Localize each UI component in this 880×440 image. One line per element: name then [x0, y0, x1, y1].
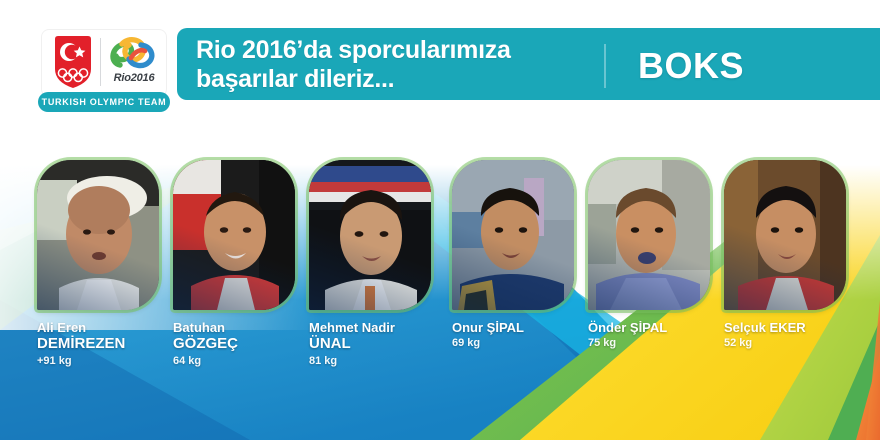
header-divider — [604, 44, 606, 88]
athlete-name-block-3: Mehmet Nadir ÜNAL 81 kg — [309, 320, 459, 369]
athlete-weight: 69 kg — [452, 335, 602, 351]
turkish-olympic-shield-icon — [52, 35, 94, 89]
athlete-weight: 52 kg — [724, 335, 874, 351]
athlete-weight: 81 kg — [309, 353, 459, 369]
athlete-card-1[interactable] — [37, 160, 159, 310]
athlete-photo-6 — [724, 160, 846, 310]
logo-divider — [100, 38, 101, 86]
rio-2016-logo-icon — [108, 37, 158, 73]
athlete-first-name: Selçuk EKER — [724, 320, 874, 335]
athlete-name-block-2: Batuhan GÖZGEÇ 64 kg — [173, 320, 323, 369]
headline-text: Rio 2016’da sporcularımıza başarılar dil… — [196, 36, 511, 94]
athlete-last-name: DEMİREZEN — [37, 335, 187, 353]
athlete-card-6[interactable] — [724, 160, 846, 310]
olympic-team-banner: TURKISH OLYMPIC TEAM — [38, 92, 170, 112]
sport-title: BOKS — [638, 46, 744, 86]
athlete-first-name: Ali Eren — [37, 320, 187, 335]
athlete-photo-5 — [588, 160, 710, 310]
athlete-first-name: Önder ŞİPAL — [588, 320, 738, 335]
athlete-first-name: Onur ŞİPAL — [452, 320, 602, 335]
athlete-card-2[interactable] — [173, 160, 295, 310]
rio-wordmark: Rio2016 — [106, 72, 162, 84]
athlete-last-name: GÖZGEÇ — [173, 335, 323, 353]
athlete-name-block-1: Ali Eren DEMİREZEN +91 kg — [37, 320, 187, 369]
athlete-name-block-4: Onur ŞİPAL 69 kg — [452, 320, 602, 351]
turkish-olympic-team-logo: Rio2016 TURKISH OLYMPIC TEAM — [38, 30, 170, 116]
athlete-photo-2 — [173, 160, 295, 310]
athlete-weight: 64 kg — [173, 353, 323, 369]
athlete-name-block-6: Selçuk EKER 52 kg — [724, 320, 874, 351]
athlete-name-block-5: Önder ŞİPAL 75 kg — [588, 320, 738, 351]
athlete-first-name: Mehmet Nadir — [309, 320, 459, 335]
athlete-photo-1 — [37, 160, 159, 310]
athlete-last-name: ÜNAL — [309, 335, 459, 353]
athlete-card-5[interactable] — [588, 160, 710, 310]
athlete-card-4[interactable] — [452, 160, 574, 310]
athlete-photo-3 — [309, 160, 431, 310]
athlete-first-name: Batuhan — [173, 320, 323, 335]
athlete-photo-4 — [452, 160, 574, 310]
poster: Rio2016 TURKISH OLYMPIC TEAM Rio 2016’da… — [0, 0, 880, 440]
athlete-card-3[interactable] — [309, 160, 431, 310]
athlete-weight: 75 kg — [588, 335, 738, 351]
athlete-weight: +91 kg — [37, 353, 187, 369]
